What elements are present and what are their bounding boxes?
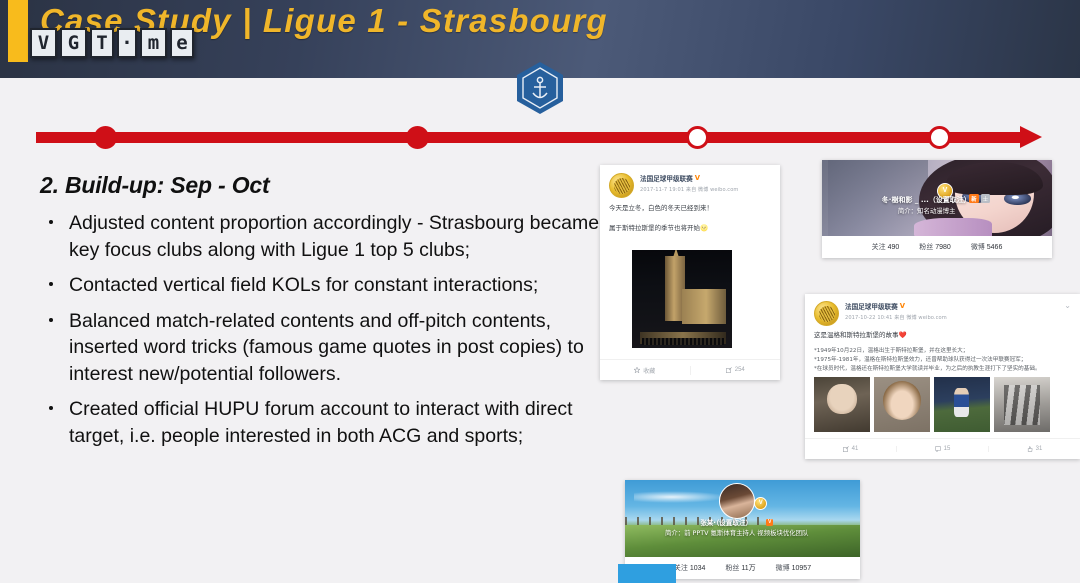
stat-posts-value: 5466 bbox=[987, 244, 1003, 251]
share-icon bbox=[843, 446, 849, 452]
post-actions-bar: 收藏 254 bbox=[600, 359, 780, 380]
post-timestamp: 2017-10-22 10:41 来自 微博 weibo.com bbox=[845, 314, 947, 321]
anchor-shield-icon bbox=[517, 62, 563, 114]
header-accent-bar bbox=[8, 0, 28, 62]
post-detail-line: *1975年-1981年，温格在斯特拉斯堡效力，还曾帮助球队获得过一次法甲联赛冠… bbox=[814, 356, 1071, 365]
banner-cloud bbox=[634, 491, 728, 503]
post-photo[interactable] bbox=[994, 377, 1050, 432]
stat-followers-value: 11万 bbox=[741, 565, 755, 572]
bullet-dot-icon bbox=[49, 220, 53, 224]
bullet-dot-icon bbox=[49, 406, 53, 410]
post-photo[interactable] bbox=[934, 377, 990, 432]
share-action[interactable]: 254 bbox=[691, 367, 781, 373]
profile-tag-new: 新 bbox=[969, 194, 978, 203]
account-name-row[interactable]: 法国足球甲级联赛 V bbox=[845, 301, 947, 311]
account-name: 法国足球甲级联赛 bbox=[640, 173, 693, 183]
post-timestamp: 2017-11-7 19:01 来自 微博 weibo.com bbox=[640, 186, 738, 193]
timeline-node-1[interactable] bbox=[94, 126, 117, 149]
stat-followers-label: 粉丝 bbox=[919, 243, 933, 251]
timeline-node-4[interactable] bbox=[928, 126, 951, 149]
profile-banner-image[interactable]: V 张某·（设置取注） 简介：前 PPTV 氪斯体育主持人 视频板块优化团队 V bbox=[625, 480, 860, 557]
stat-posts-label: 微博 bbox=[776, 564, 790, 572]
stat-followers[interactable]: 粉丝 7980 bbox=[919, 242, 951, 252]
moon-emoji-icon: 🌝 bbox=[700, 224, 708, 232]
post-text-line-2: 属于斯特拉斯堡的季节也将开始🌝 bbox=[609, 223, 771, 233]
timeline-arrow-head bbox=[1020, 126, 1042, 148]
list-item: Contacted vertical field KOLs for consta… bbox=[40, 272, 600, 299]
stat-followers-value: 7980 bbox=[935, 244, 951, 251]
post-image-cathedral[interactable] bbox=[630, 248, 734, 350]
stat-posts[interactable]: 微博 10957 bbox=[776, 563, 811, 573]
profile-description: 简介：前 PPTV 氪斯体育主持人 视频板块优化团队 bbox=[665, 528, 809, 537]
share-count: 41 bbox=[852, 446, 859, 452]
stat-following-value: 490 bbox=[888, 244, 900, 251]
star-icon bbox=[634, 367, 640, 373]
like-count: 31 bbox=[1036, 446, 1043, 452]
stat-following[interactable]: 关注 1034 bbox=[674, 563, 706, 573]
profile-tag-level: 士 bbox=[981, 194, 990, 203]
profile-description: 简介：知名动漫博主 bbox=[898, 206, 956, 215]
bullet-text: Balanced match-related contents and off-… bbox=[69, 310, 584, 385]
verified-badge-icon: V bbox=[900, 303, 905, 310]
stat-followers-label: 粉丝 bbox=[725, 564, 739, 572]
bottom-profile-card: V 张某·（设置取注） 简介：前 PPTV 氪斯体育主持人 视频板块优化团队 V… bbox=[625, 480, 860, 579]
post-actions-bar: 41 15 31 bbox=[805, 438, 1080, 459]
chevron-down-icon[interactable]: ⌄ bbox=[1064, 301, 1071, 310]
slide-body: 2. Build-up: Sep - Oct Adjusted content … bbox=[40, 172, 600, 458]
bullet-text: Contacted vertical field KOLs for consta… bbox=[69, 274, 538, 296]
avatar[interactable] bbox=[814, 301, 839, 326]
cathedral-crowd bbox=[642, 338, 724, 345]
stat-followers[interactable]: 粉丝 11万 bbox=[725, 563, 755, 573]
comment-icon bbox=[935, 446, 941, 452]
weibo-post-card-2: 法国足球甲级联赛 V 2017-10-22 10:41 来自 微博 weibo.… bbox=[805, 294, 1080, 459]
ligue1-crest-icon bbox=[614, 178, 630, 194]
stat-posts-value: 10957 bbox=[792, 565, 811, 572]
vgtime-watermark-logo: V G T · m e bbox=[30, 28, 194, 58]
post-photo[interactable] bbox=[814, 377, 870, 432]
account-name: 法国足球甲级联赛 bbox=[845, 301, 898, 311]
profile-display-name: 冬·樹和影 _ ...（设置取注） bbox=[882, 195, 971, 205]
profile-tag: V bbox=[766, 519, 773, 526]
avatar[interactable] bbox=[719, 483, 755, 519]
post-detail-line: *在球员时代，温格还在斯特拉斯堡大学就读并毕业，为之后的执教生涯打下了坚实的基础… bbox=[814, 365, 1071, 374]
profile-stats-row: 关注 490 粉丝 7980 微博 5466 bbox=[822, 236, 1052, 258]
comment-action[interactable]: 15 bbox=[897, 446, 989, 452]
post-header: 法国足球甲级联赛 V 2017-11-7 19:01 来自 微博 weibo.c… bbox=[609, 173, 771, 198]
watermark-letter: · bbox=[117, 28, 137, 58]
post-photo-grid bbox=[814, 377, 1050, 432]
cathedral-nave bbox=[682, 289, 726, 324]
timeline-bar bbox=[36, 132, 1026, 143]
post-photo[interactable] bbox=[874, 377, 930, 432]
post-lead-text: 这是温格和斯特拉斯堡的故事❤️ bbox=[814, 330, 1071, 340]
post-header: 法国足球甲级联赛 V 2017-10-22 10:41 来自 微博 weibo.… bbox=[814, 301, 1071, 326]
bullet-text: Created official HUPU forum account to i… bbox=[69, 398, 573, 447]
profile-banner-image[interactable]: V 冬·樹和影 _ ...（设置取注） 简介：知名动漫博主 新 士 bbox=[822, 160, 1052, 236]
watermark-letter: m bbox=[140, 28, 167, 58]
favorite-action[interactable]: 收藏 bbox=[600, 366, 691, 375]
like-icon bbox=[1027, 446, 1033, 452]
list-item: Adjusted content proportion accordingly … bbox=[40, 210, 600, 263]
post-text-line-2-content: 属于斯特拉斯堡的季节也将开始 bbox=[609, 224, 700, 232]
bullet-list: Adjusted content proportion accordingly … bbox=[40, 210, 600, 449]
timeline-node-2[interactable] bbox=[406, 126, 429, 149]
share-icon bbox=[726, 367, 732, 373]
bullet-text: Adjusted content proportion accordingly … bbox=[69, 212, 599, 261]
list-item: Balanced match-related contents and off-… bbox=[40, 308, 600, 388]
comment-count: 15 bbox=[944, 446, 951, 452]
verified-badge-icon: V bbox=[695, 175, 700, 182]
stat-posts[interactable]: 微博 5466 bbox=[971, 242, 1003, 252]
watermark-letter: e bbox=[170, 28, 194, 58]
share-action[interactable]: 41 bbox=[805, 446, 897, 452]
profile-display-name: 张某·（设置取注） bbox=[700, 517, 752, 527]
anime-profile-card: V 冬·樹和影 _ ...（设置取注） 简介：知名动漫博主 新 士 关注 490… bbox=[822, 160, 1052, 258]
bullet-dot-icon bbox=[49, 318, 53, 322]
share-count: 254 bbox=[735, 367, 745, 373]
stat-following[interactable]: 关注 490 bbox=[872, 242, 900, 252]
ligue1-crest-icon bbox=[819, 306, 835, 322]
watermark-letter: G bbox=[60, 28, 87, 58]
like-action[interactable]: 31 bbox=[989, 446, 1080, 452]
weibo-screenshot-collage: 法国足球甲级联赛 V 2017-11-7 19:01 来自 微博 weibo.c… bbox=[600, 160, 1080, 579]
bullet-dot-icon bbox=[49, 282, 53, 286]
timeline-node-3[interactable] bbox=[686, 126, 709, 149]
list-item: Created official HUPU forum account to i… bbox=[40, 396, 600, 449]
account-name-row[interactable]: 法国足球甲级联赛 V bbox=[640, 173, 738, 183]
section-heading: 2. Build-up: Sep - Oct bbox=[40, 172, 600, 199]
timeline bbox=[0, 118, 1080, 158]
heart-emoji-icon: ❤️ bbox=[899, 331, 907, 339]
watermark-letter: V bbox=[30, 28, 57, 58]
profile-tags: 新 士 bbox=[969, 194, 990, 203]
stat-following-label: 关注 bbox=[674, 564, 688, 572]
favorite-label: 收藏 bbox=[643, 366, 655, 375]
weibo-post-card-1: 法国足球甲级联赛 V 2017-11-7 19:01 来自 微博 weibo.c… bbox=[600, 165, 780, 380]
banner-blue-strip bbox=[618, 564, 676, 583]
stat-posts-label: 微博 bbox=[971, 243, 985, 251]
watermark-letter: T bbox=[90, 28, 114, 58]
stat-following-label: 关注 bbox=[872, 243, 886, 251]
avatar[interactable] bbox=[609, 173, 634, 198]
post-detail-line: *1949年10月22日，温格出生于斯特拉斯堡，并在这里长大； bbox=[814, 347, 1071, 356]
post-lead-content: 这是温格和斯特拉斯堡的故事 bbox=[814, 331, 899, 339]
anime-shawl bbox=[914, 218, 992, 236]
post-text-line-1: 今天是立冬，白色的冬天已经到来！ bbox=[609, 203, 771, 213]
avatar-badge-icon: V bbox=[754, 497, 767, 510]
stat-following-value: 1034 bbox=[690, 565, 706, 572]
